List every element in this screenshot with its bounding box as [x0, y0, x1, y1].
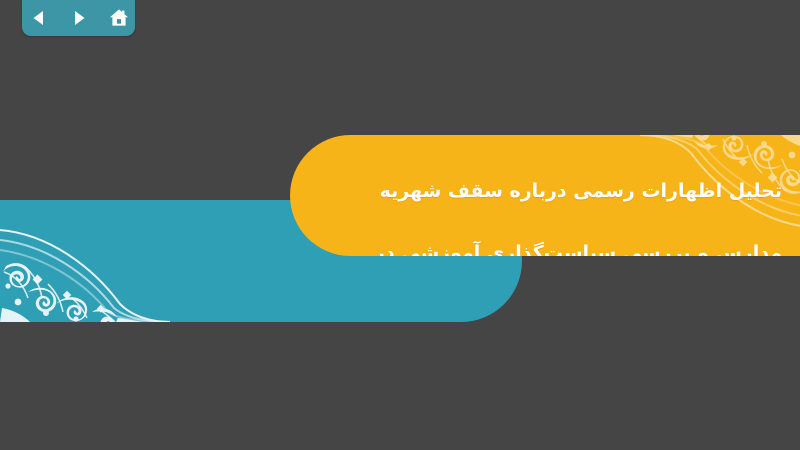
page-title-line-2: مدارس و بررسی سیاست‌گذاری آموزشی در — [290, 238, 782, 256]
yellow-title-banner: تحلیل اظهارات رسمی درباره سقف شهریه مدار… — [290, 135, 800, 256]
triangle-right-icon — [70, 9, 88, 27]
navigation-bar — [22, 0, 135, 36]
slide-canvas: تحلیل اظهارات رسمی درباره سقف شهریه مدار… — [0, 0, 800, 450]
home-icon — [109, 8, 129, 28]
triangle-left-icon — [30, 9, 48, 27]
back-button[interactable] — [27, 6, 51, 30]
home-button[interactable] — [107, 6, 131, 30]
page-title: تحلیل اظهارات رسمی درباره سقف شهریه مدار… — [290, 145, 782, 256]
forward-button[interactable] — [67, 6, 91, 30]
arabesque-ornament-teal — [0, 200, 170, 322]
page-title-line-1: تحلیل اظهارات رسمی درباره سقف شهریه — [290, 176, 782, 207]
